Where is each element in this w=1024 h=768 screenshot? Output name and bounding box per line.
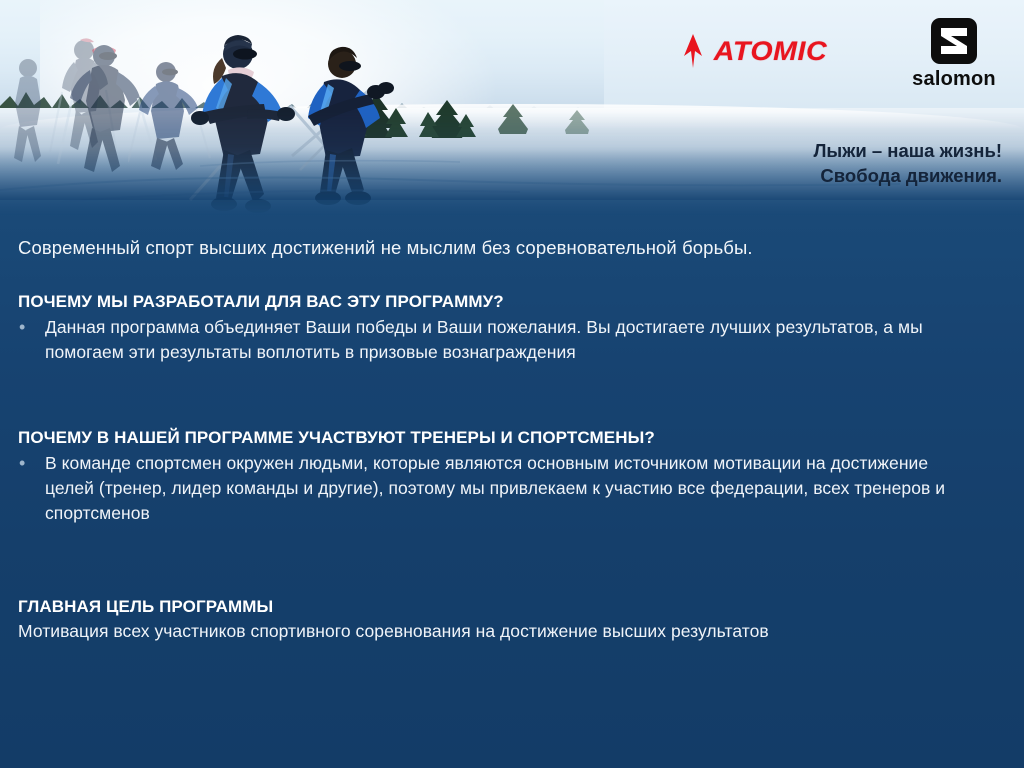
- salomon-logo[interactable]: salomon: [908, 18, 1000, 91]
- atomic-logo[interactable]: ATOMIC: [680, 34, 824, 68]
- block-2-bullet-text: В команде спортсмен окружен людьми, кото…: [45, 451, 978, 526]
- presentation-slide: ATOMIC salomon Лыжи – наша жизнь! Свобод…: [0, 0, 1024, 768]
- evergreen-bush-icon: [492, 104, 534, 134]
- content-block-1: ПОЧЕМУ МЫ РАЗРАБОТАЛИ ДЛЯ ВАС ЭТУ ПРОГРА…: [18, 292, 978, 365]
- brand-logo-group: ATOMIC salomon: [672, 16, 1002, 102]
- block-3-heading: ГЛАВНАЯ ЦЕЛЬ ПРОГРАММЫ: [18, 597, 978, 617]
- block-3-text: Мотивация всех участников спортивного со…: [18, 619, 978, 644]
- atomic-wordmark: ATOMIC: [714, 36, 827, 67]
- block-1-bullet-text: Данная программа объединяет Ваши победы …: [45, 315, 978, 365]
- salomon-monogram-icon: [931, 18, 977, 64]
- salomon-wordmark: salomon: [908, 68, 1000, 91]
- evergreen-bush-icon: [560, 110, 594, 134]
- block-2-bullet-row: • В команде спортсмен окружен людьми, ко…: [18, 451, 978, 526]
- block-1-bullet-row: • Данная программа объединяет Ваши побед…: [18, 315, 978, 365]
- content-block-2: ПОЧЕМУ В НАШЕЙ ПРОГРАММЕ УЧАСТВУЮТ ТРЕНЕ…: [18, 428, 978, 526]
- tagline-line-2: Свобода движения.: [582, 164, 1002, 189]
- bullet-marker-icon: •: [18, 451, 45, 526]
- tagline-line-1: Лыжи – наша жизнь!: [582, 139, 1002, 164]
- block-2-heading: ПОЧЕМУ В НАШЕЙ ПРОГРАММЕ УЧАСТВУЮТ ТРЕНЕ…: [18, 428, 978, 448]
- bullet-marker-icon: •: [18, 315, 45, 365]
- atomic-arrow-icon: [680, 34, 706, 68]
- block-1-heading: ПОЧЕМУ МЫ РАЗРАБОТАЛИ ДЛЯ ВАС ЭТУ ПРОГРА…: [18, 292, 978, 312]
- content-block-3: ГЛАВНАЯ ЦЕЛЬ ПРОГРАММЫ Мотивация всех уч…: [18, 597, 978, 644]
- lead-paragraph: Современный спорт высших достижений не м…: [18, 236, 978, 259]
- slide-tagline: Лыжи – наша жизнь! Свобода движения.: [582, 139, 1002, 188]
